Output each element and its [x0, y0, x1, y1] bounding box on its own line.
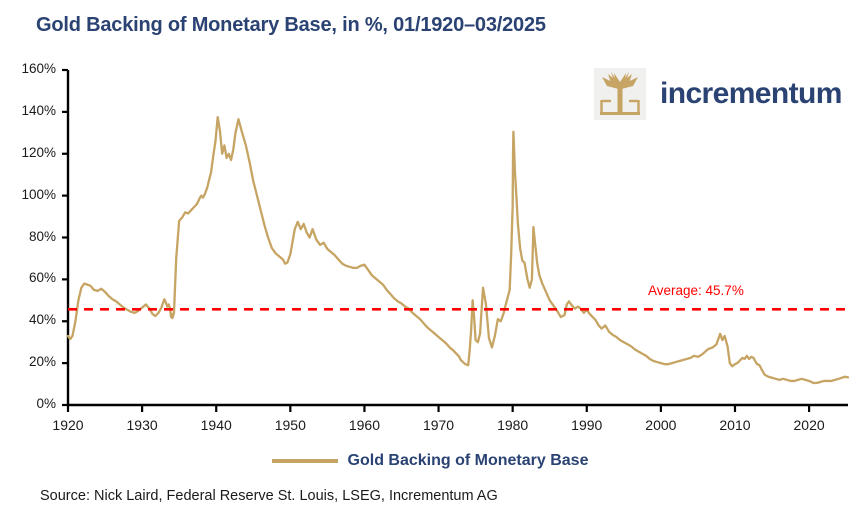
x-tick-label: 2010 [705, 417, 765, 433]
x-tick-label: 1930 [112, 417, 172, 433]
chart-legend: Gold Backing of Monetary Base [0, 452, 860, 470]
x-tick-label: 1940 [186, 417, 246, 433]
y-tick-label: 140% [8, 103, 56, 118]
y-tick-label: 0% [8, 396, 56, 411]
legend-swatch-gold [272, 459, 338, 463]
y-tick-label: 160% [8, 61, 56, 76]
x-tick-label: 1950 [260, 417, 320, 433]
y-tick-label: 100% [8, 187, 56, 202]
y-tick-label: 20% [8, 354, 56, 369]
x-tick-label: 1920 [38, 417, 98, 433]
legend-label: Gold Backing of Monetary Base [348, 452, 589, 470]
x-tick-label: 1980 [483, 417, 543, 433]
chart-container: Gold Backing of Monetary Base, in %, 01/… [0, 0, 860, 518]
source-note: Source: Nick Laird, Federal Reserve St. … [40, 488, 498, 504]
y-tick-label: 120% [8, 145, 56, 160]
x-tick-label: 2000 [631, 417, 691, 433]
x-tick-label: 1970 [409, 417, 469, 433]
x-tick-label: 2020 [779, 417, 839, 433]
average-annotation: Average: 45.7% [648, 283, 744, 298]
y-tick-label: 80% [8, 229, 56, 244]
y-tick-label: 40% [8, 312, 56, 327]
x-tick-label: 1960 [334, 417, 394, 433]
y-tick-label: 60% [8, 270, 56, 285]
x-tick-label: 1990 [557, 417, 617, 433]
plot-area [0, 0, 860, 518]
